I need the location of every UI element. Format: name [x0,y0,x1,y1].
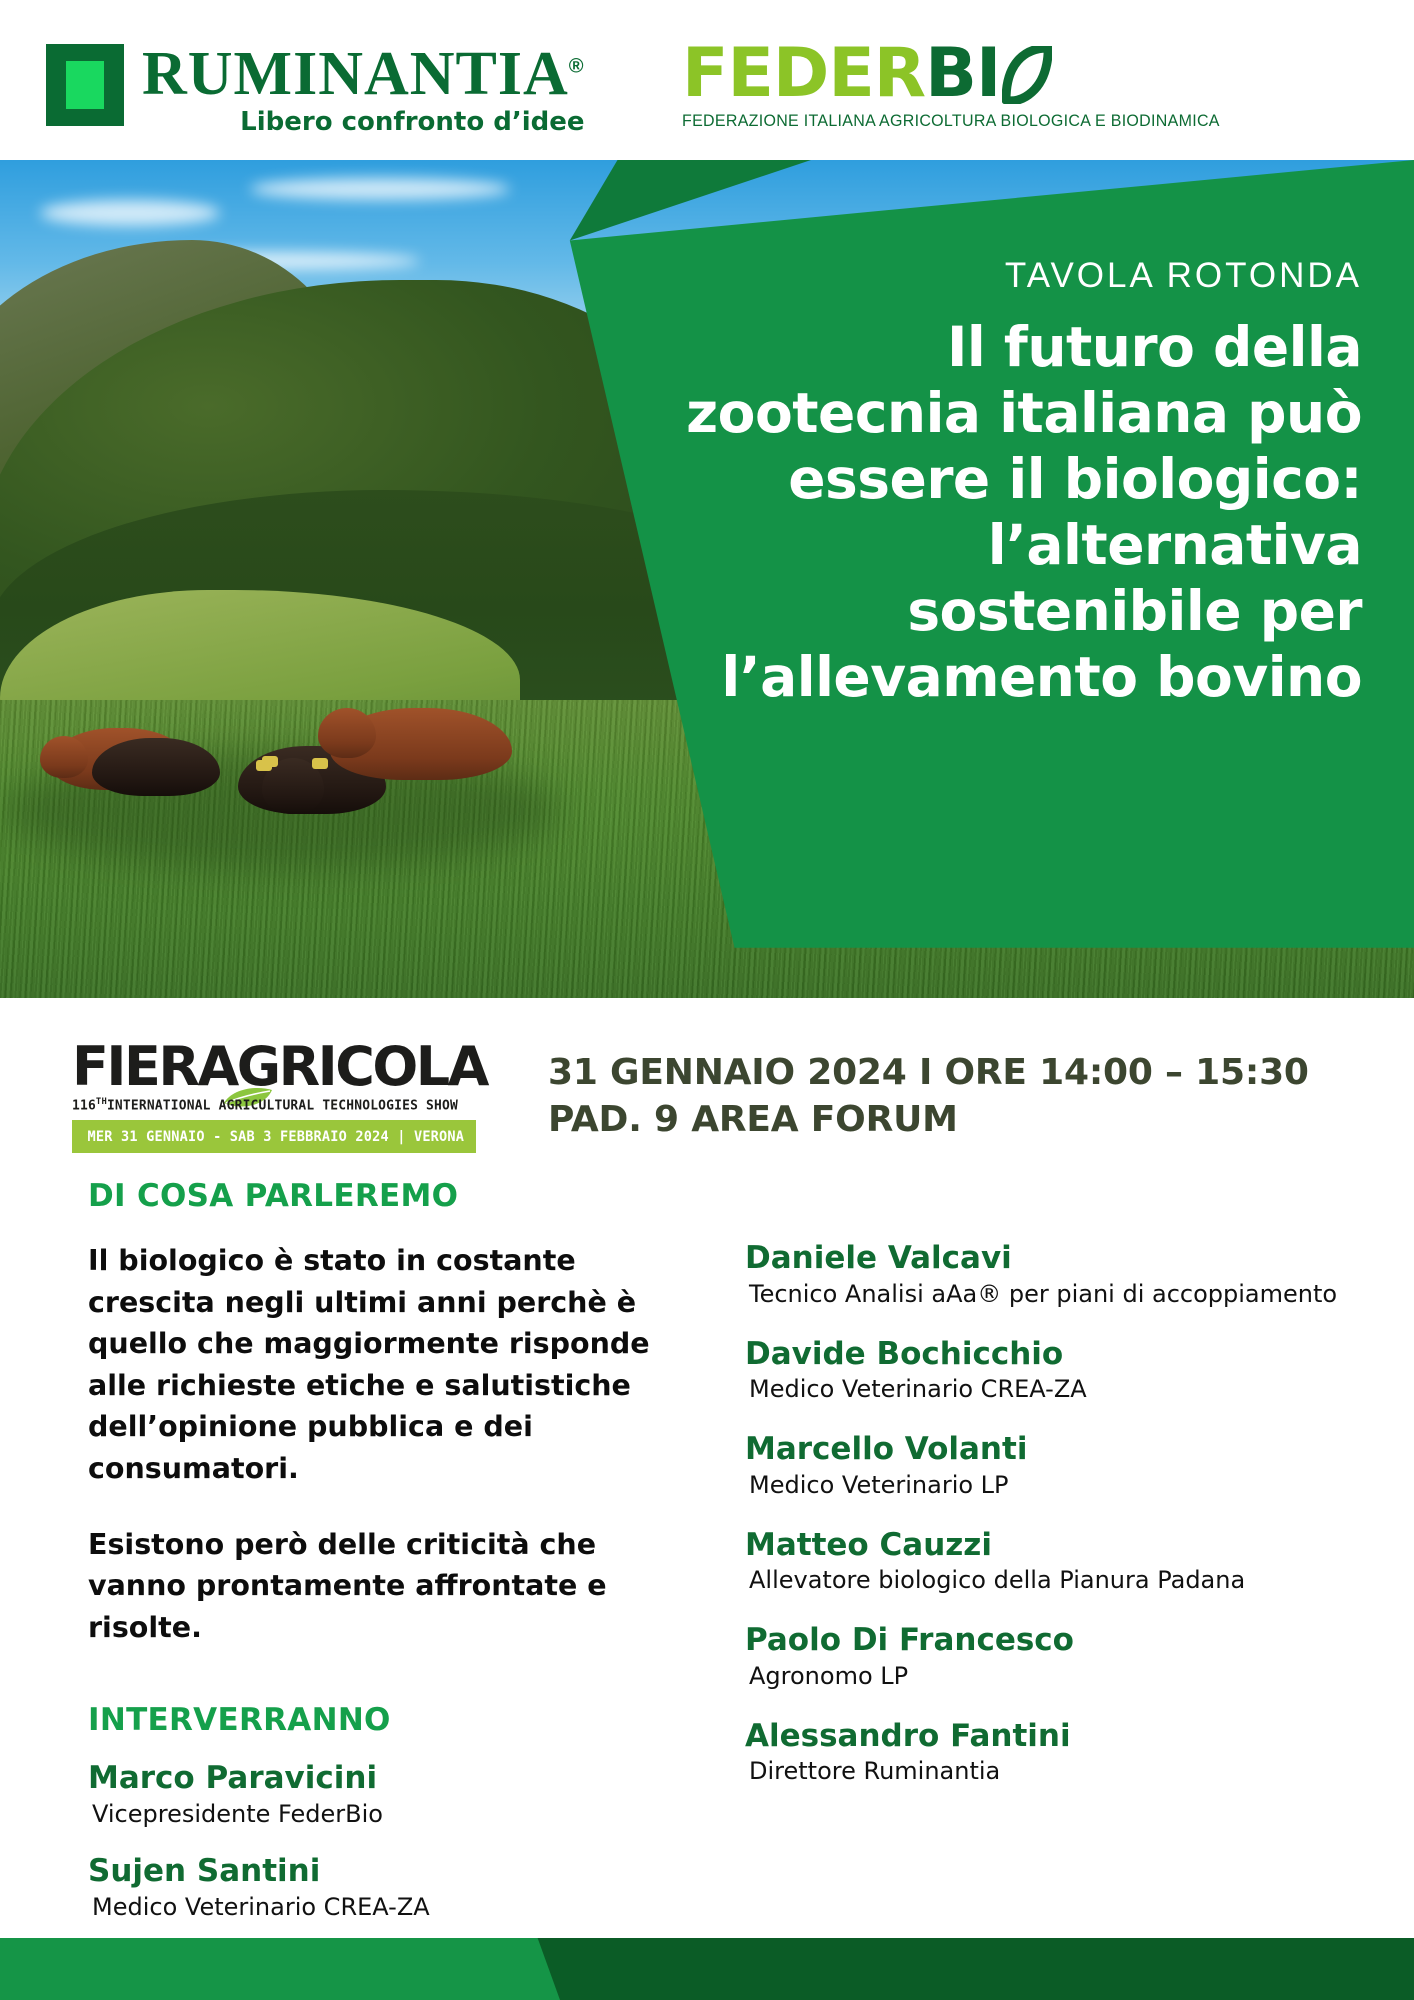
ruminantia-name-text: RUMINANTIA [142,40,569,108]
speaker-role: Vicepresidente FederBio [92,1799,688,1829]
speaker-name: Marco Paravicini [88,1760,688,1797]
speaker-item: Alessandro Fantini Direttore Ruminantia [745,1718,1365,1787]
header-logos: RUMINANTIA® Libero confronto d’idee FEDE… [0,0,1414,160]
footer-bar [0,1938,1414,2000]
speaker-name: Alessandro Fantini [745,1718,1365,1755]
ruminantia-mark-icon [46,44,124,126]
speaker-item: Marcello Volanti Medico Veterinario LP [745,1431,1365,1500]
cloud [250,178,510,200]
ear-tag [262,756,278,767]
ear-tag [312,758,328,769]
speaker-item: Davide Bochicchio Medico Veterinario CRE… [745,1336,1365,1405]
cow [92,738,220,796]
fieragricola-subtitle: 116THINTERNATIONAL AGRICULTURAL TECHNOLO… [72,1097,493,1113]
speaker-role: Agronomo LP [749,1661,1365,1691]
ruminantia-tagline: Libero confronto d’idee [142,107,585,137]
fieragricola-edition: 116 [72,1098,96,1113]
content-column-left: DI COSA PARLEREMO Il biologico è stato i… [88,1178,688,1946]
speaker-item: Sujen Santini Medico Veterinario CREA-ZA [88,1853,688,1922]
cow-head [318,708,376,758]
cloud [40,200,220,226]
section-heading-speakers: INTERVERRANNO [88,1702,688,1738]
leaf-icon [1002,46,1052,104]
fieragricola-wordmark: FIERAGRICOLA [72,1040,487,1094]
fieragricola-logo: FIERAGRICOLA 116THINTERNATIONAL AGRICULT… [72,1040,502,1153]
federbio-name-feder: FEDER [682,40,925,108]
speaker-item: Paolo Di Francesco Agronomo LP [745,1622,1365,1691]
section-heading-topics: DI COSA PARLEREMO [88,1178,688,1214]
speaker-item: Matteo Cauzzi Allevatore biologico della… [745,1527,1365,1596]
speaker-name: Davide Bochicchio [745,1336,1365,1373]
ruminantia-name: RUMINANTIA® [142,44,585,105]
registered-icon: ® [569,55,585,77]
speaker-name: Matteo Cauzzi [745,1527,1365,1564]
hero-kicker: TAVOLA ROTONDA [642,256,1362,296]
speaker-role: Allevatore biologico della Pianura Padan… [749,1565,1365,1595]
federbio-name-bi: BI [925,40,1000,108]
event-date-time: 31 GENNAIO 2024 I ORE 14:00 – 15:30 [548,1050,1309,1097]
federbio-tagline: FEDERAZIONE ITALIANA AGRICOLTURA BIOLOGI… [682,112,1220,131]
fieragricola-dates: MER 31 GENNAIO - SAB 3 FEBBRAIO 2024 | V… [72,1129,464,1145]
fieragricola-subtitle-text: INTERNATIONAL AGRICULTURAL TECHNOLOGIES … [107,1098,458,1113]
speaker-item: Daniele Valcavi Tecnico Analisi aAa® per… [745,1240,1365,1309]
event-when: 31 GENNAIO 2024 I ORE 14:00 – 15:30 PAD.… [548,1050,1309,1144]
federbio-wordmark: FEDERBI [682,38,1236,108]
event-location: PAD. 9 AREA FORUM [548,1097,1309,1144]
topic-paragraph: Il biologico è stato in costante crescit… [88,1240,688,1490]
topic-paragraph: Esistono però delle criticità che vanno … [88,1524,688,1649]
fieragricola-dates-bar: MER 31 GENNAIO - SAB 3 FEBBRAIO 2024 | V… [72,1120,476,1153]
speaker-role: Tecnico Analisi aAa® per piani di accopp… [749,1279,1365,1309]
federbio-logo: FEDERBI FEDERAZIONE ITALIANA AGRICOLTURA… [682,38,1236,131]
ruminantia-logo: RUMINANTIA® Libero confronto d’idee [46,44,585,137]
speaker-name: Daniele Valcavi [745,1240,1365,1277]
speaker-role: Direttore Ruminantia [749,1756,1365,1786]
hero-banner: TAVOLA ROTONDA Il futuro della zootecnia… [0,160,1414,998]
speaker-role: Medico Veterinario CREA-ZA [749,1374,1365,1404]
speaker-name: Marcello Volanti [745,1431,1365,1468]
cow-head [40,736,88,778]
speaker-item: Marco Paravicini Vicepresidente FederBio [88,1760,688,1829]
fieragricola-name: FIERAGRICOLA [72,1035,487,1098]
speaker-name: Paolo Di Francesco [745,1622,1365,1659]
page-title: Il futuro della zootecnia italiana può e… [642,314,1362,710]
speaker-role: Medico Veterinario CREA-ZA [92,1892,688,1922]
speaker-role: Medico Veterinario LP [749,1470,1365,1500]
ruminantia-mark-inner [66,61,104,109]
content-column-right: Daniele Valcavi Tecnico Analisi aAa® per… [745,1240,1365,1813]
fieragricola-edition-ordinal: TH [96,1097,107,1107]
event-bar: FIERAGRICOLA 116THINTERNATIONAL AGRICULT… [0,1020,1414,1160]
hero-text: TAVOLA ROTONDA Il futuro della zootecnia… [642,256,1362,710]
speaker-name: Sujen Santini [88,1853,688,1890]
footer-bar-light [0,1938,560,2000]
ruminantia-wordmark: RUMINANTIA® Libero confronto d’idee [142,44,585,137]
